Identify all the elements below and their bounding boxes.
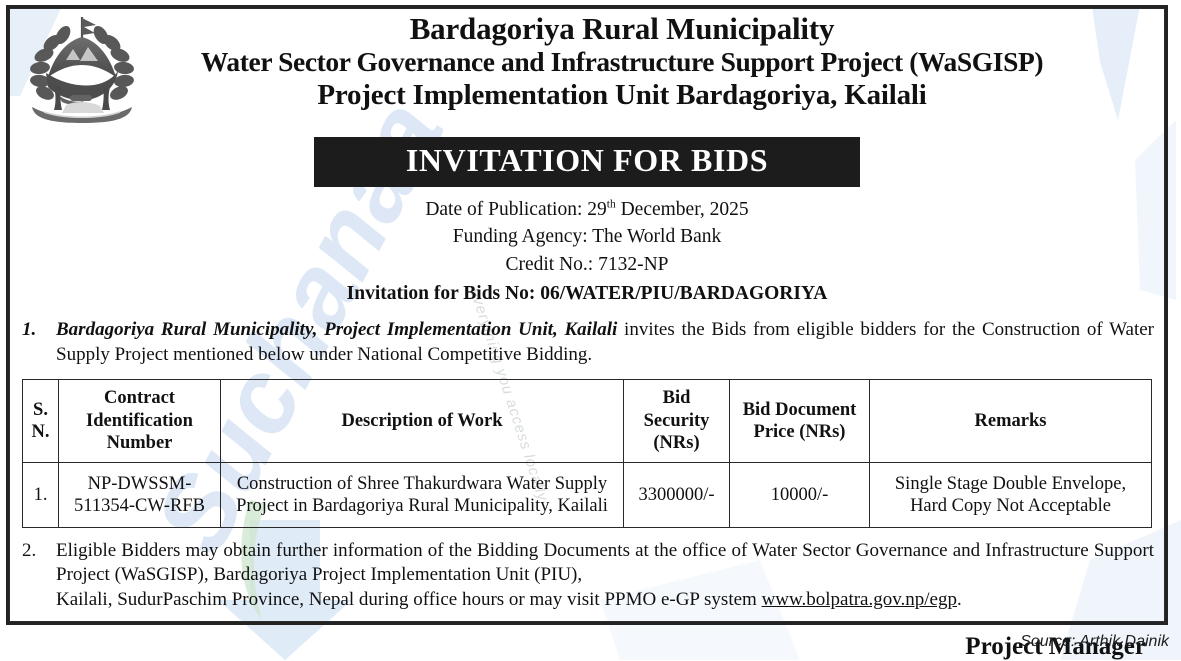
publication-date: Date of Publication: 29th December, 2025 xyxy=(6,196,1168,224)
date-ordinal: th xyxy=(607,198,616,210)
publication-meta: Date of Publication: 29th December, 2025… xyxy=(6,196,1168,308)
bids-table-container: S. N. Contract Identification Number Des… xyxy=(6,379,1168,528)
cell-sn: 1. xyxy=(23,462,59,527)
emblem-flag-icon xyxy=(82,17,96,39)
funding-agency: Funding Agency: The World Bank xyxy=(6,223,1168,251)
cell-description: Construction of Shree Thakurdwara Water … xyxy=(221,462,624,527)
organization-titles: Bardagoriya Rural Municipality Water Sec… xyxy=(22,13,1152,112)
nepal-government-emblem-icon xyxy=(18,13,146,125)
date-label: Date of Publication: xyxy=(425,199,587,220)
cell-contract-id: NP-DWSSM-511354-CW-RFB xyxy=(59,462,221,527)
header-contract-id: Contract Identification Number xyxy=(59,379,221,462)
document-body: Bardagoriya Rural Municipality Water Sec… xyxy=(6,5,1168,625)
header-description: Description of Work xyxy=(221,379,624,462)
paragraph-1-text: Bardagoriya Rural Municipality, Project … xyxy=(56,318,1154,367)
header-sn: S. N. xyxy=(23,379,59,462)
paragraph-2: 2. Eligible Bidders may obtain further i… xyxy=(6,539,1168,613)
org-name-line: Bardagoriya Rural Municipality xyxy=(132,13,1112,46)
paragraph-2-number: 2. xyxy=(22,539,56,613)
egp-portal-link[interactable]: www.bolpatra.gov.np/egp xyxy=(762,589,957,610)
cell-bid-security: 3300000/- xyxy=(624,462,730,527)
invitation-for-bids-number: Invitation for Bids No: 06/WATER/PIU/BAR… xyxy=(6,280,1168,308)
signatory-title: Project Manager xyxy=(6,633,1168,661)
paragraph-2-line-1: Eligible Bidders may obtain further info… xyxy=(56,540,1154,586)
project-name-line: Water Sector Governance and Infrastructu… xyxy=(132,47,1112,78)
table-row: 1. NP-DWSSM-511354-CW-RFB Construction o… xyxy=(23,462,1152,527)
bids-table: S. N. Contract Identification Number Des… xyxy=(22,379,1152,528)
cell-bid-document-price: 10000/- xyxy=(730,462,870,527)
paragraph-1-number: 1. xyxy=(22,318,56,367)
date-day: 29 xyxy=(587,199,607,220)
unit-name-line: Project Implementation Unit Bardagoriya,… xyxy=(132,80,1112,112)
paragraph-2-line-end: . xyxy=(957,589,962,610)
banner-container: INVITATION FOR BIDS xyxy=(6,137,1168,187)
header-bid-security: Bid Security (NRs) xyxy=(624,379,730,462)
credit-number: Credit No.: 7132-NP xyxy=(6,251,1168,279)
masthead: Bardagoriya Rural Municipality Water Sec… xyxy=(6,5,1168,127)
paragraph-1-lead: Bardagoriya Rural Municipality, Project … xyxy=(56,319,617,340)
date-rest: December, 2025 xyxy=(616,199,749,220)
header-remarks: Remarks xyxy=(870,379,1152,462)
invitation-banner-title: INVITATION FOR BIDS xyxy=(314,137,860,187)
cell-remarks: Single Stage Double Envelope, Hard Copy … xyxy=(870,462,1152,527)
paragraph-2-text: Eligible Bidders may obtain further info… xyxy=(56,539,1154,613)
paragraph-2-line-2: Kailali, SudurPaschim Province, Nepal du… xyxy=(56,589,762,610)
source-attribution: Source: Arthik Dainik xyxy=(1020,633,1169,651)
header-bid-document-price: Bid Document Price (NRs) xyxy=(730,379,870,462)
paragraph-1: 1. Bardagoriya Rural Municipality, Proje… xyxy=(6,318,1168,367)
table-header-row: S. N. Contract Identification Number Des… xyxy=(23,379,1152,462)
